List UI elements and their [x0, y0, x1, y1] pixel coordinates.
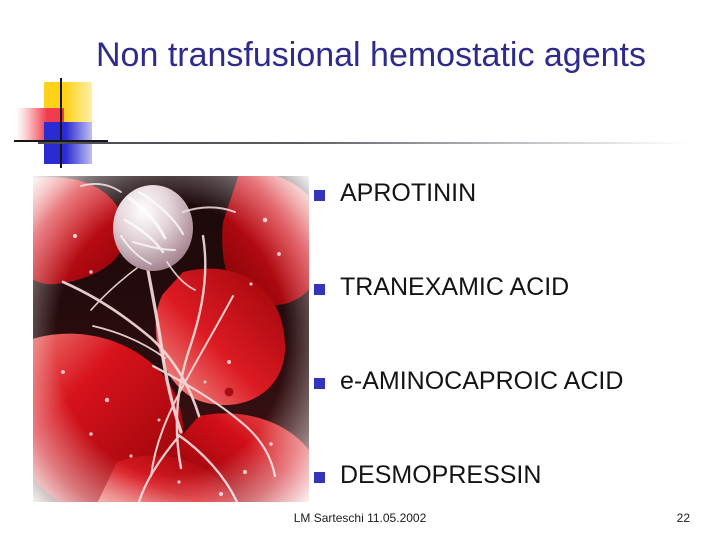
title-divider-rule [38, 142, 688, 144]
presentation-slide: Non transfusional hemostatic agents [0, 0, 720, 540]
page-title: Non transfusional hemostatic agents [96, 34, 696, 76]
dark-speck [225, 388, 234, 397]
list-item[interactable]: DESMOPRESSIN [314, 460, 706, 540]
blood-clot-illustration [33, 176, 309, 502]
list-item-label: APROTININ [340, 178, 706, 208]
logo-vertical-line [60, 78, 62, 168]
slide-number: 22 [677, 511, 690, 525]
list-item-label: DESMOPRESSIN [340, 460, 706, 490]
decorative-logo-mark [14, 78, 108, 168]
title-block: Non transfusional hemostatic agents [96, 34, 696, 76]
square-bullet-icon [314, 472, 325, 483]
list-item[interactable]: TRANEXAMIC ACID [314, 272, 706, 366]
blood-clot-micrograph [33, 176, 309, 502]
platelet-cell [113, 185, 193, 271]
list-item-label: e-AMINOCAPROIC ACID [340, 366, 706, 396]
footer-author-date: LM Sarteschi 11.05.2002 [0, 511, 720, 525]
list-item-label: TRANEXAMIC ACID [340, 272, 706, 302]
square-bullet-icon [314, 378, 325, 389]
square-bullet-icon [314, 190, 325, 201]
list-item[interactable]: APROTININ [314, 178, 706, 272]
list-item[interactable]: e-AMINOCAPROIC ACID [314, 366, 706, 460]
square-bullet-icon [314, 284, 325, 295]
bullet-list: APROTININ TRANEXAMIC ACID e-AMINOCAPROIC… [314, 178, 706, 540]
